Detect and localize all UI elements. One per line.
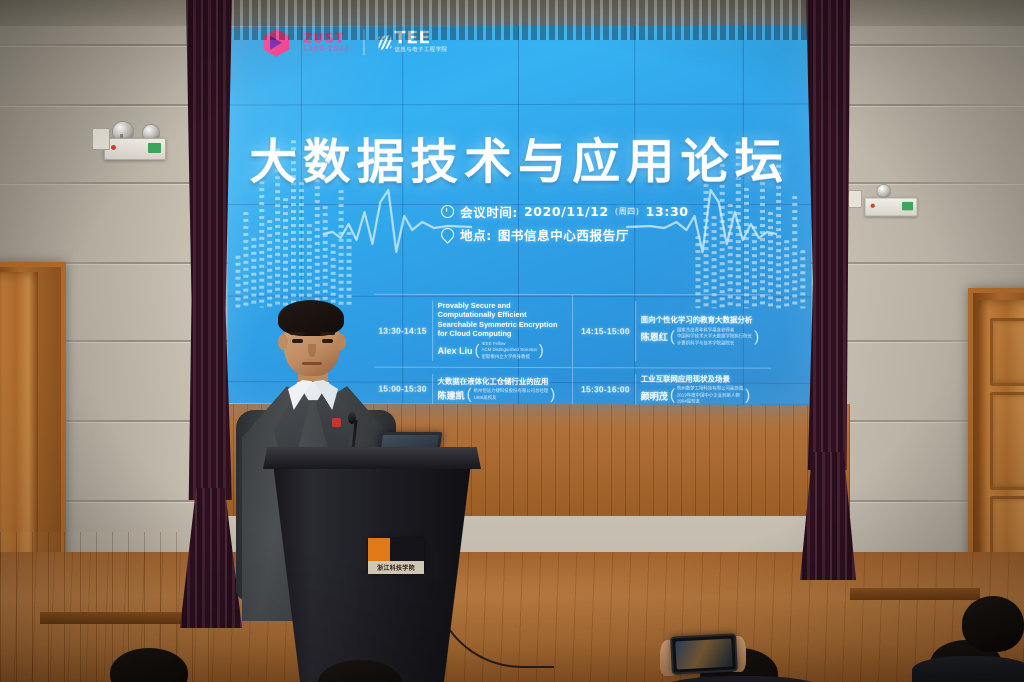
wall-skirting-right [850,588,980,600]
schedule-item: 15:00-15:30 大数据在液体化工仓储行业的应用 陈建凯 ( 杭州恒远力捷… [374,366,572,405]
forum-schedule: 13:30-14:15 Provably Secure and Computat… [374,294,771,405]
presenter-mouth [302,362,322,365]
meta-time-row: 会议时间: 2020/11/12 (周四) 13:30 [441,202,689,221]
location-pin-icon [438,225,456,243]
schedule-speaker: 陈恩红 [641,330,668,343]
stage-valance [195,0,835,40]
credential-line: 国家杰出青年科学基金获得者 [677,327,734,332]
status-led-green [148,143,161,153]
paren-open: ( [467,389,472,401]
presenter-brow-left [290,332,305,335]
paren-open: ( [475,345,480,357]
paren-open: ( [670,390,675,402]
credential-line: 2004届校友 [677,399,700,404]
presenter-lapel-badge [332,418,341,427]
presenter-hair [278,300,344,336]
credential-line: IEEE Fellow [482,341,506,346]
meta-time-label: 会议时间: [460,202,518,221]
stage-curtain-right [806,0,850,470]
presenter-brow-right [320,332,335,335]
emergency-light-left [104,138,166,160]
schedule-item: 15:30-16:00 工业互联网应用现状及场景 颜明茂 ( 杭州数梦工场科技有… [572,367,771,405]
conference-hall-photo: ZUST 1980-2020 TEE 信息与电子工程学院 大数据技术与应用论坛 … [0,0,1024,682]
emergency-light-right [865,198,918,217]
smartphone-recording[interactable] [670,633,738,674]
meta-time-date: 2020/11/12 [524,204,609,219]
schedule-topic: Provably Secure and Computationally Effi… [438,301,568,339]
paren-open: ( [670,331,675,343]
credential-line: 1986届校友 [474,395,497,400]
presenter-eye-left [292,339,303,343]
emergency-light-body [104,138,166,160]
schedule-credentials: 杭州数梦工场科技有限公司副总裁 2019年度中国中小企业创新人物 2004届校友 [677,386,743,405]
door-right-panel-mid [990,392,1024,490]
audience-head [962,596,1024,652]
credential-line: ACM Distinguished Scientist [482,347,537,352]
podium-top-surface [263,447,481,469]
paren-close: ) [754,331,759,343]
tee-sub: 信息与电子工程学院 [394,47,447,55]
clock-icon [441,205,454,218]
credential-line: 中国科学技术大学大数据学院执行院长 [677,334,752,339]
presenter-eye-right [322,339,333,343]
status-led-red [111,145,116,150]
schedule-credentials: 国家杰出青年科学基金获得者 中国科学技术大学大数据学院执行院长 计算机科学与技术… [677,327,752,347]
wall-outlet-left[interactable] [92,128,110,150]
led-panel-seam [228,103,812,105]
credential-line: 杭州数梦工场科技有限公司副总裁 [677,386,743,391]
schedule-speaker-row: Alex Liu ( IEEE Fellow ACM Distinguished… [438,341,568,361]
paren-close: ) [745,390,750,402]
credential-line: 计算机科学与技术学院副院长 [677,340,734,345]
emblem-graphic [368,538,424,561]
forum-meta-block: 会议时间: 2020/11/12 (周四) 13:30 地点: 图书信息中心西报… [441,202,689,248]
meta-time-hour: 13:30 [646,204,689,219]
wall-outlet-right[interactable] [848,190,862,208]
credential-line: 密歇根州立大学终身教授 [482,354,530,359]
schedule-divider [635,301,636,361]
meta-location-value: 图书信息中心西报告厅 [498,225,629,244]
credential-line: 杭州恒远力捷科技股份有限公司总经理 [474,388,549,393]
schedule-divider [635,374,636,405]
meta-time-weekday: (周四) [615,206,640,217]
schedule-credentials: IEEE Fellow ACM Distinguished Scientist … [482,341,537,361]
emblem-text: 浙江科技学院 [368,561,424,574]
schedule-speaker-row: 颜明茂 ( 杭州数梦工场科技有限公司副总裁 2019年度中国中小企业创新人物 2… [641,386,751,405]
meta-location-row: 地点: 图书信息中心西报告厅 [441,225,689,244]
schedule-speaker: 颜明茂 [641,389,668,402]
schedule-item: 13:30-14:15 Provably Secure and Computat… [374,294,572,367]
university-emblem: 浙江科技学院 [368,538,424,574]
schedule-time: 15:30-16:00 [581,385,630,395]
paren-close: ) [550,389,555,401]
credential-line: 2019年度中国中小企业创新人物 [677,392,740,397]
forum-title: 大数据技术与应用论坛 [228,122,812,193]
zust-years: 1980-2020 [303,45,350,52]
emblem-orange-block [368,538,390,561]
audience-shoulders [912,656,1024,682]
stage-curtain-left [186,0,232,500]
schedule-item: 14:15-15:00 面向个性化学习的教育大数据分析 陈恩红 ( 国家杰出青年… [572,294,771,367]
schedule-speaker-row: 陈恩红 ( 国家杰出青年科学基金获得者 中国科学技术大学大数据学院执行院长 计算… [641,327,759,347]
door-right-panel-top [990,318,1024,386]
schedule-topic: 工业互联网应用现状及场景 [641,374,751,384]
schedule-time: 14:15-15:00 [581,326,630,336]
emergency-lamp-right-a [877,184,891,198]
presenter-nose [308,344,316,357]
schedule-divider [432,373,433,404]
status-led-red [871,204,875,208]
schedule-speaker: Alex Liu [438,346,473,356]
emblem-dark-block [390,538,424,561]
schedule-credentials: 杭州恒远力捷科技股份有限公司总经理 1986届校友 [474,388,549,401]
paren-close: ) [539,345,544,357]
status-led-green [902,202,913,211]
presenter-ear-right [336,334,346,350]
meta-location-label: 地点: [460,225,492,244]
presenter-ear-left [278,334,288,350]
emergency-light-body-right [865,198,918,217]
schedule-speaker: 陈建凯 [438,388,465,401]
schedule-topic: 面向个性化学习的教育大数据分析 [641,315,759,325]
schedule-divider [432,301,433,361]
schedule-speaker-row: 陈建凯 ( 杭州恒远力捷科技股份有限公司总经理 1986届校友 ) [438,388,556,402]
schedule-topic: 大数据在液体化工仓储行业的应用 [438,377,556,387]
